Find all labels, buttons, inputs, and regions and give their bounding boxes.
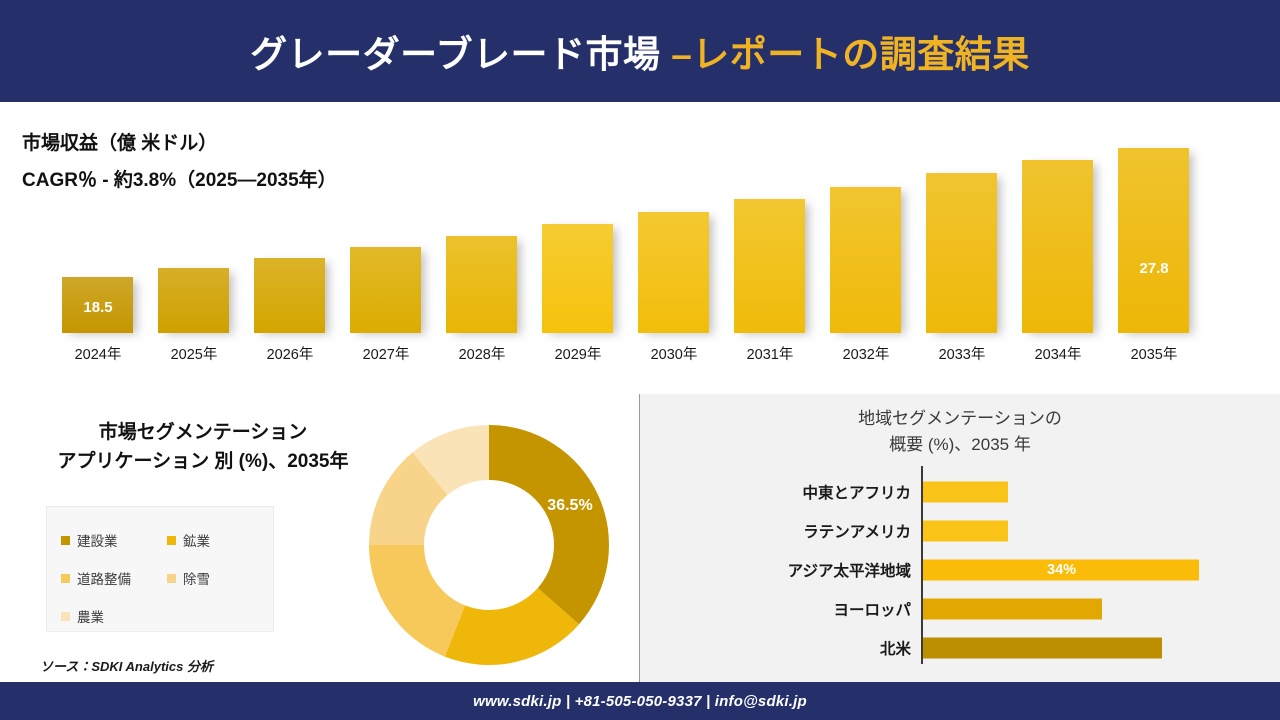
legend-item-label: 鉱業 xyxy=(183,530,210,550)
revenue-bar xyxy=(1118,148,1189,333)
revenue-bar-category-label: 2026年 xyxy=(242,343,338,364)
segmentation-legend-item[interactable]: 鉱業 xyxy=(167,521,273,559)
revenue-bar xyxy=(830,187,901,333)
page-footer: www.sdki.jp | +81-505-050-9337 | info@sd… xyxy=(0,682,1280,720)
revenue-bar-column: 18.52024年 xyxy=(50,102,146,394)
legend-item-label: 建設業 xyxy=(77,530,118,550)
revenue-bar xyxy=(446,236,517,333)
revenue-bar-category-label: 2030年 xyxy=(626,343,722,364)
revenue-bar-category-label: 2024年 xyxy=(50,343,146,364)
region-row-label: アジア太平洋地域 xyxy=(788,559,911,581)
donut-segment[interactable] xyxy=(369,545,465,657)
segmentation-title: 市場セグメンテーション アプリケーション 別 (%)、2035年 xyxy=(38,418,368,477)
segmentation-legend-item[interactable]: 建設業 xyxy=(61,521,167,559)
page-title-main: グレーダーブレード市場 xyxy=(250,34,671,75)
region-bar[interactable] xyxy=(923,598,1102,619)
segmentation-legend-item[interactable]: 除雪 xyxy=(167,559,273,597)
legend-item-label: 道路整備 xyxy=(77,568,131,588)
region-row: アジア太平洋地域34% xyxy=(640,550,1280,589)
region-bar[interactable] xyxy=(923,481,1008,502)
region-title-line1: 地域セグメンテーションの xyxy=(640,406,1280,432)
region-row-label: 北米 xyxy=(880,637,911,659)
revenue-bar-column: 2034年 xyxy=(1010,102,1106,394)
legend-swatch-icon xyxy=(167,574,176,583)
page-title-accent: –レポートの調査結果 xyxy=(671,34,1030,75)
region-row: ラテンアメリカ xyxy=(640,511,1280,550)
segmentation-title-line1: 市場セグメンテーション xyxy=(38,418,368,447)
legend-swatch-icon xyxy=(61,574,70,583)
region-title: 地域セグメンテーションの 概要 (%)、2035 年 xyxy=(640,406,1280,457)
revenue-bar xyxy=(734,199,805,333)
legend-swatch-icon xyxy=(61,536,70,545)
revenue-bar-column: 2029年 xyxy=(530,102,626,394)
legend-swatch-icon xyxy=(61,612,70,621)
region-row-label: ヨーロッパ xyxy=(833,598,911,620)
revenue-bar-category-label: 2025年 xyxy=(146,343,242,364)
revenue-bar xyxy=(926,173,997,333)
revenue-bar-column: 2030年 xyxy=(626,102,722,394)
region-title-line2: 概要 (%)、2035 年 xyxy=(640,432,1280,458)
legend-item-label: 除雪 xyxy=(183,568,210,588)
revenue-bar-column: 2027年 xyxy=(338,102,434,394)
revenue-bar xyxy=(542,224,613,333)
revenue-bar-category-label: 2032年 xyxy=(818,343,914,364)
source-note: ソース：SDKI Analytics 分析 xyxy=(40,656,213,675)
segmentation-donut-chart: 36.5% xyxy=(360,416,618,674)
market-revenue-section: 市場収益（億 米ドル） CAGR％ - 約3.8%（2025―2035年） 18… xyxy=(0,102,1280,395)
revenue-bar-column: 2028年 xyxy=(434,102,530,394)
revenue-bar-column: 2025年 xyxy=(146,102,242,394)
region-row-label: 中東とアフリカ xyxy=(802,481,911,503)
region-bar-value-label: 34% xyxy=(1047,562,1076,578)
revenue-bar xyxy=(158,268,229,333)
revenue-bar-column: 2031年 xyxy=(722,102,818,394)
revenue-bar-chart: 18.52024年2025年2026年2027年2028年2029年2030年2… xyxy=(0,102,1280,394)
revenue-bar-category-label: 2034年 xyxy=(1010,343,1106,364)
segmentation-title-line2: アプリケーション 別 (%)、2035年 xyxy=(38,447,368,476)
region-panel: 地域セグメンテーションの 概要 (%)、2035 年 中東とアフリカラテンアメリ… xyxy=(640,394,1280,682)
page-title: グレーダーブレード市場 –レポートの調査結果 xyxy=(250,24,1030,78)
revenue-bar-category-label: 2027年 xyxy=(338,343,434,364)
region-row: 中東とアフリカ xyxy=(640,472,1280,511)
segmentation-panel: 市場セグメンテーション アプリケーション 別 (%)、2035年 建設業鉱業道路… xyxy=(0,394,640,682)
revenue-bar-category-label: 2031年 xyxy=(722,343,818,364)
revenue-bar xyxy=(1022,160,1093,333)
revenue-bar-column: 2033年 xyxy=(914,102,1010,394)
page-header: グレーダーブレード市場 –レポートの調査結果 xyxy=(0,0,1280,102)
region-row-label: ラテンアメリカ xyxy=(803,520,911,542)
infographic-page: グレーダーブレード市場 –レポートの調査結果 市場収益（億 米ドル） CAGR％… xyxy=(0,0,1280,720)
revenue-bar xyxy=(254,258,325,333)
region-bar-chart: 中東とアフリカラテンアメリカアジア太平洋地域34%ヨーロッパ北米 xyxy=(640,466,1280,674)
region-row: ヨーロッパ xyxy=(640,589,1280,628)
revenue-bar xyxy=(350,247,421,333)
donut-svg xyxy=(360,416,618,674)
revenue-bar xyxy=(638,212,709,333)
segmentation-legend: 建設業鉱業道路整備除雪農業 xyxy=(46,506,274,632)
revenue-bar-column: 27.82035年 xyxy=(1106,102,1202,394)
revenue-bar-category-label: 2033年 xyxy=(914,343,1010,364)
footer-contact: www.sdki.jp | +81-505-050-9337 | info@sd… xyxy=(473,693,807,710)
revenue-bar xyxy=(62,277,133,333)
donut-segment[interactable] xyxy=(489,425,609,624)
revenue-bar-column: 2032年 xyxy=(818,102,914,394)
revenue-bar-column: 2026年 xyxy=(242,102,338,394)
legend-swatch-icon xyxy=(167,536,176,545)
region-bar[interactable] xyxy=(923,637,1162,658)
region-bar[interactable] xyxy=(923,520,1008,541)
revenue-bar-category-label: 2028年 xyxy=(434,343,530,364)
revenue-bar-category-label: 2029年 xyxy=(530,343,626,364)
segmentation-legend-item[interactable]: 道路整備 xyxy=(61,559,167,597)
revenue-bar-category-label: 2035年 xyxy=(1106,343,1202,364)
segmentation-legend-item[interactable]: 農業 xyxy=(61,597,167,635)
region-row: 北米 xyxy=(640,628,1280,667)
legend-item-label: 農業 xyxy=(77,606,104,626)
